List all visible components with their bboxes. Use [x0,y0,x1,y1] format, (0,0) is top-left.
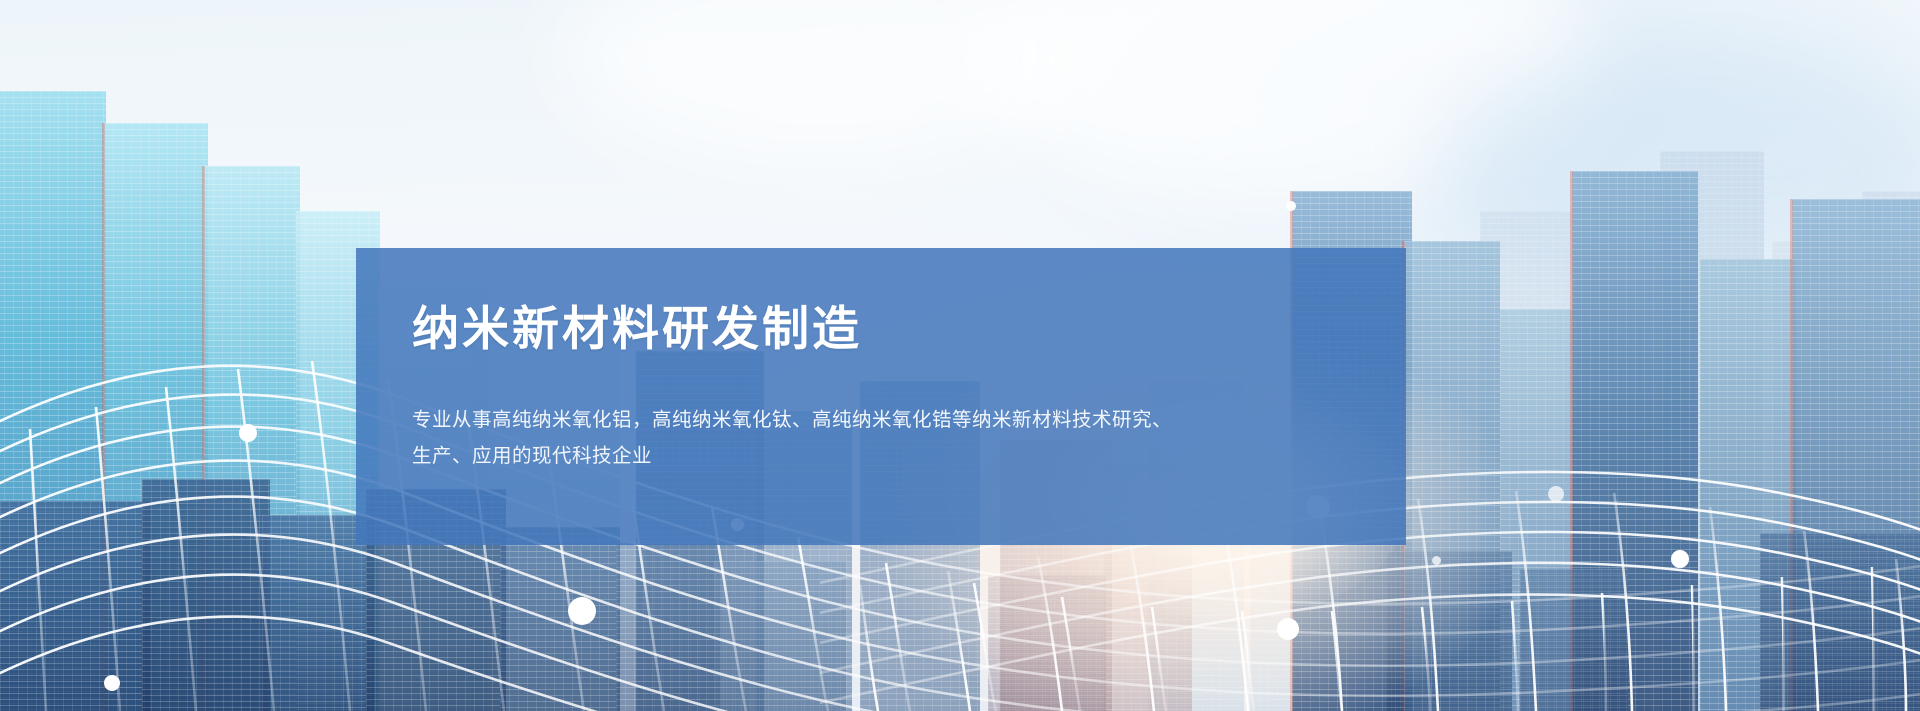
hero-banner: 纳米新材料研发制造 专业从事高纯纳米氧化铝，高纯纳米氧化钛、高纯纳米氧化锆等纳米… [0,0,1920,711]
hero-description-line: 专业从事高纯纳米氧化铝，高纯纳米氧化钛、高纯纳米氧化锆等纳米新材料技术研究、 [412,402,1202,438]
page-title: 纳米新材料研发制造 [412,304,1406,355]
hero-content-panel: 纳米新材料研发制造 专业从事高纯纳米氧化铝，高纯纳米氧化钛、高纯纳米氧化锆等纳米… [356,248,1406,545]
hero-description: 专业从事高纯纳米氧化铝，高纯纳米氧化钛、高纯纳米氧化锆等纳米新材料技术研究、 生… [412,402,1202,474]
hero-description-line: 生产、应用的现代科技企业 [412,438,1202,474]
